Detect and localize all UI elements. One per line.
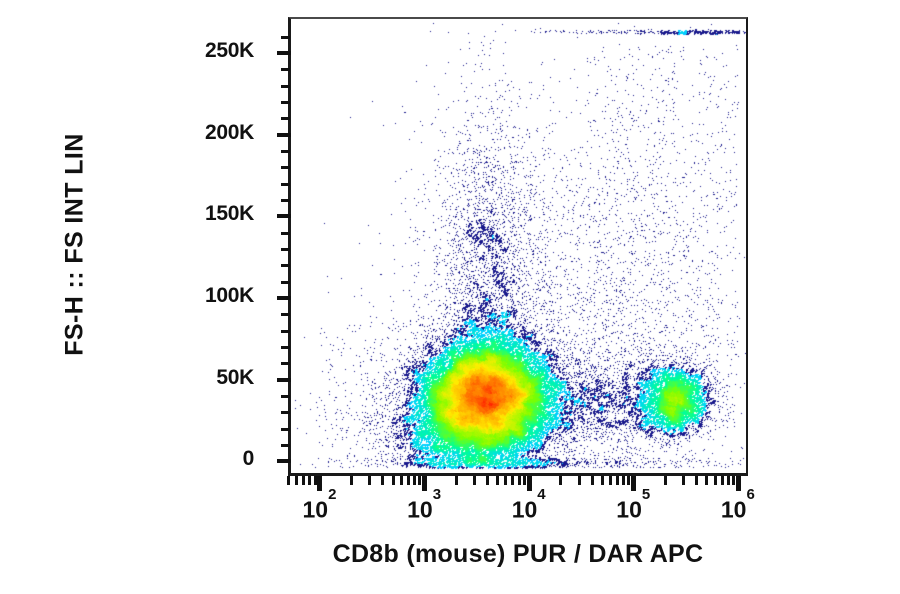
x-tick-minor <box>287 476 290 485</box>
flow-cytometry-figure: 050K100K150K200K250K FS-H :: FS INT LIN … <box>0 0 900 594</box>
x-tick-minor <box>523 476 526 485</box>
x-axis: 102103104105106 CD8b (mouse) PUR / DAR A… <box>0 0 900 594</box>
x-tick-minor <box>559 476 562 485</box>
x-tick-label: 103 <box>407 496 441 524</box>
x-tick-minor <box>400 476 403 485</box>
x-tick-minor <box>601 476 604 485</box>
x-tick-minor <box>350 476 353 485</box>
x-tick-minor <box>695 476 698 485</box>
x-tick-label: 104 <box>512 496 546 524</box>
x-tick-minor <box>496 476 499 485</box>
x-tick-label: 105 <box>616 496 650 524</box>
x-tick-minor <box>682 476 685 485</box>
x-tick-minor <box>302 476 305 485</box>
x-tick-minor <box>455 476 458 485</box>
x-axis-title: CD8b (mouse) PUR / DAR APC <box>288 540 748 569</box>
x-tick-minor <box>616 476 619 485</box>
x-tick-major <box>736 476 741 491</box>
x-tick-minor <box>473 476 476 485</box>
x-tick-major <box>527 476 532 491</box>
x-tick-minor <box>721 476 724 485</box>
x-tick-major <box>422 476 427 491</box>
x-tick-minor <box>609 476 612 485</box>
x-tick-minor <box>591 476 594 485</box>
x-tick-minor <box>295 476 298 485</box>
x-tick-minor <box>418 476 421 485</box>
x-tick-minor <box>732 476 735 485</box>
x-tick-minor <box>407 476 410 485</box>
x-tick-label: 102 <box>303 496 337 524</box>
x-tick-minor <box>627 476 630 485</box>
x-tick-label: 106 <box>721 496 755 524</box>
x-tick-minor <box>368 476 371 485</box>
x-tick-minor <box>392 476 395 485</box>
x-tick-minor <box>518 476 521 485</box>
x-tick-minor <box>504 476 507 485</box>
x-tick-minor <box>308 476 311 485</box>
x-tick-minor <box>413 476 416 485</box>
x-tick-major <box>317 476 322 491</box>
x-tick-minor <box>314 476 317 485</box>
x-tick-minor <box>727 476 730 485</box>
x-tick-minor <box>622 476 625 485</box>
x-tick-minor <box>664 476 667 485</box>
x-tick-minor <box>381 476 384 485</box>
x-tick-major <box>631 476 636 491</box>
x-tick-minor <box>705 476 708 485</box>
x-tick-minor <box>511 476 514 485</box>
x-tick-minor <box>486 476 489 485</box>
x-tick-minor <box>578 476 581 485</box>
x-tick-minor <box>714 476 717 485</box>
